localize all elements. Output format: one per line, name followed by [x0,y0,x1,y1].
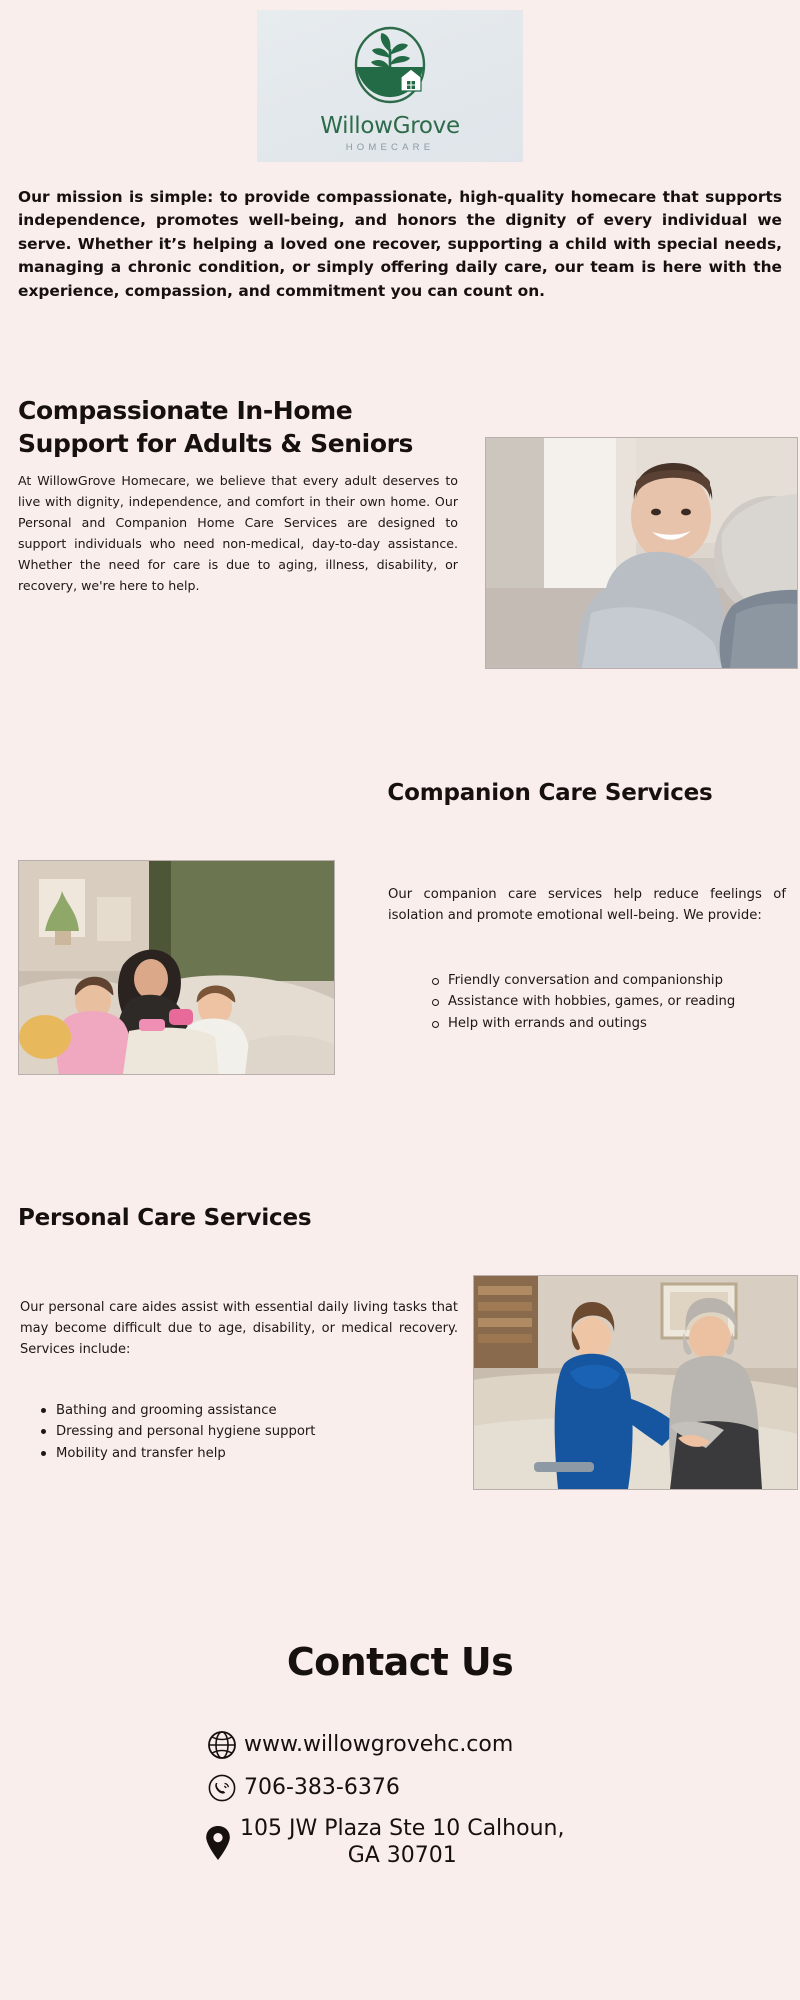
personal-care-heading: Personal Care Services [18,1205,311,1231]
contact-website-value: www.willowgrovehc.com [244,1732,513,1759]
contact-title: Contact Us [0,1640,800,1684]
list-item: Assistance with hobbies, games, or readi… [430,991,800,1012]
list-item: Dressing and personal hygiene support [38,1421,438,1442]
contact-website-row[interactable]: www.willowgrovehc.com [0,1730,800,1760]
companion-care-photo [18,860,335,1075]
contact-phone-value: 706-383-6376 [244,1775,400,1802]
personal-care-body: Our personal care aides assist with esse… [20,1297,458,1361]
map-pin-icon [196,1825,240,1861]
adults-seniors-heading: Compassionate In-Home Support for Adults… [18,395,488,460]
logo-wordmark: WillowGrove [320,113,460,139]
companion-care-photo-graphic [19,861,334,1074]
companion-care-bullet-list: Friendly conversation and companionship … [430,970,800,1034]
adults-seniors-heading-line2: Support for Adults & Seniors [18,429,413,458]
tree-house-circle-logo-icon [353,25,427,109]
list-item: Friendly conversation and companionship [430,970,800,991]
adults-seniors-heading-line1: Compassionate In-Home [18,396,352,425]
contact-address-line2: GA 30701 [348,1843,457,1868]
contact-phone-row[interactable]: 706-383-6376 [0,1774,800,1802]
contact-address-value: 105 JW Plaza Ste 10 Calhoun, GA 30701 [240,1816,564,1870]
caregiver-senior-photo-graphic [486,438,797,668]
contact-address-line1: 105 JW Plaza Ste 10 Calhoun, [240,1816,564,1841]
personal-care-photo [473,1275,798,1490]
phone-circle-icon [200,1774,244,1802]
list-item: Mobility and transfer help [38,1443,438,1464]
contact-address-row[interactable]: 105 JW Plaza Ste 10 Calhoun, GA 30701 [0,1816,800,1870]
adults-seniors-body: At WillowGrove Homecare, we believe that… [18,470,458,596]
adults-seniors-photo [485,437,798,669]
contact-details: www.willowgrovehc.com 706-383-6376 [0,1730,800,1884]
globe-icon [200,1730,244,1760]
mission-statement: Our mission is simple: to provide compas… [18,186,782,303]
brand-logo-panel: WillowGrove HOMECARE [257,10,523,162]
nurse-senior-photo-graphic [474,1276,797,1489]
list-item: Help with errands and outings [430,1013,800,1034]
companion-care-heading: Companion Care Services [330,780,770,806]
logo-tagline: HOMECARE [346,142,435,153]
flyer-page: WillowGrove HOMECARE Our mission is simp… [0,0,800,2000]
list-item: Bathing and grooming assistance [38,1400,438,1421]
personal-care-bullet-list: Bathing and grooming assistance Dressing… [38,1400,438,1464]
companion-care-body: Our companion care services help reduce … [388,885,786,927]
